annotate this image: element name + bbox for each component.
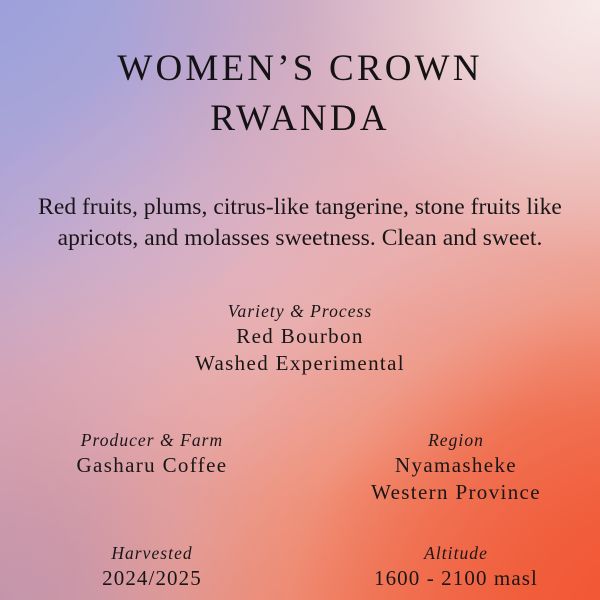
field-region: Region Nyamasheke Western Province (316, 429, 596, 506)
field-variety-process-value-2: Washed Experimental (0, 350, 600, 377)
title-line-origin: RWANDA (0, 94, 600, 144)
field-variety-process: Variety & Process Red Bourbon Washed Exp… (0, 300, 600, 377)
field-region-value-1: Nyamasheke (316, 452, 596, 479)
field-altitude: Altitude 1600 - 2100 masl (316, 542, 596, 592)
field-altitude-value-1: 1600 - 2100 masl (316, 565, 596, 592)
field-harvested-value-1: 2024/2025 (8, 565, 296, 592)
field-harvested: Harvested 2024/2025 (8, 542, 296, 592)
label-content: WOMEN’S CROWN RWANDA Red fruits, plums, … (0, 0, 600, 600)
field-producer-farm: Producer & Farm Gasharu Coffee (8, 429, 296, 479)
field-producer-farm-label: Producer & Farm (8, 429, 296, 452)
tasting-notes-line-1: Red fruits, plums, citrus-like tangerine… (16, 192, 584, 223)
tasting-notes-line-2: apricots, and molasses sweetness. Clean … (16, 223, 584, 254)
field-variety-process-label: Variety & Process (0, 300, 600, 323)
field-harvested-label: Harvested (8, 542, 296, 565)
tasting-notes: Red fruits, plums, citrus-like tangerine… (16, 192, 584, 254)
field-region-label: Region (316, 429, 596, 452)
field-region-value-2: Western Province (316, 479, 596, 506)
field-variety-process-value-1: Red Bourbon (0, 323, 600, 350)
field-altitude-label: Altitude (316, 542, 596, 565)
field-producer-farm-value-1: Gasharu Coffee (8, 452, 296, 479)
title-line-name: WOMEN’S CROWN (0, 44, 600, 94)
page-title: WOMEN’S CROWN RWANDA (0, 44, 600, 144)
coffee-label-card: WOMEN’S CROWN RWANDA Red fruits, plums, … (0, 0, 600, 600)
